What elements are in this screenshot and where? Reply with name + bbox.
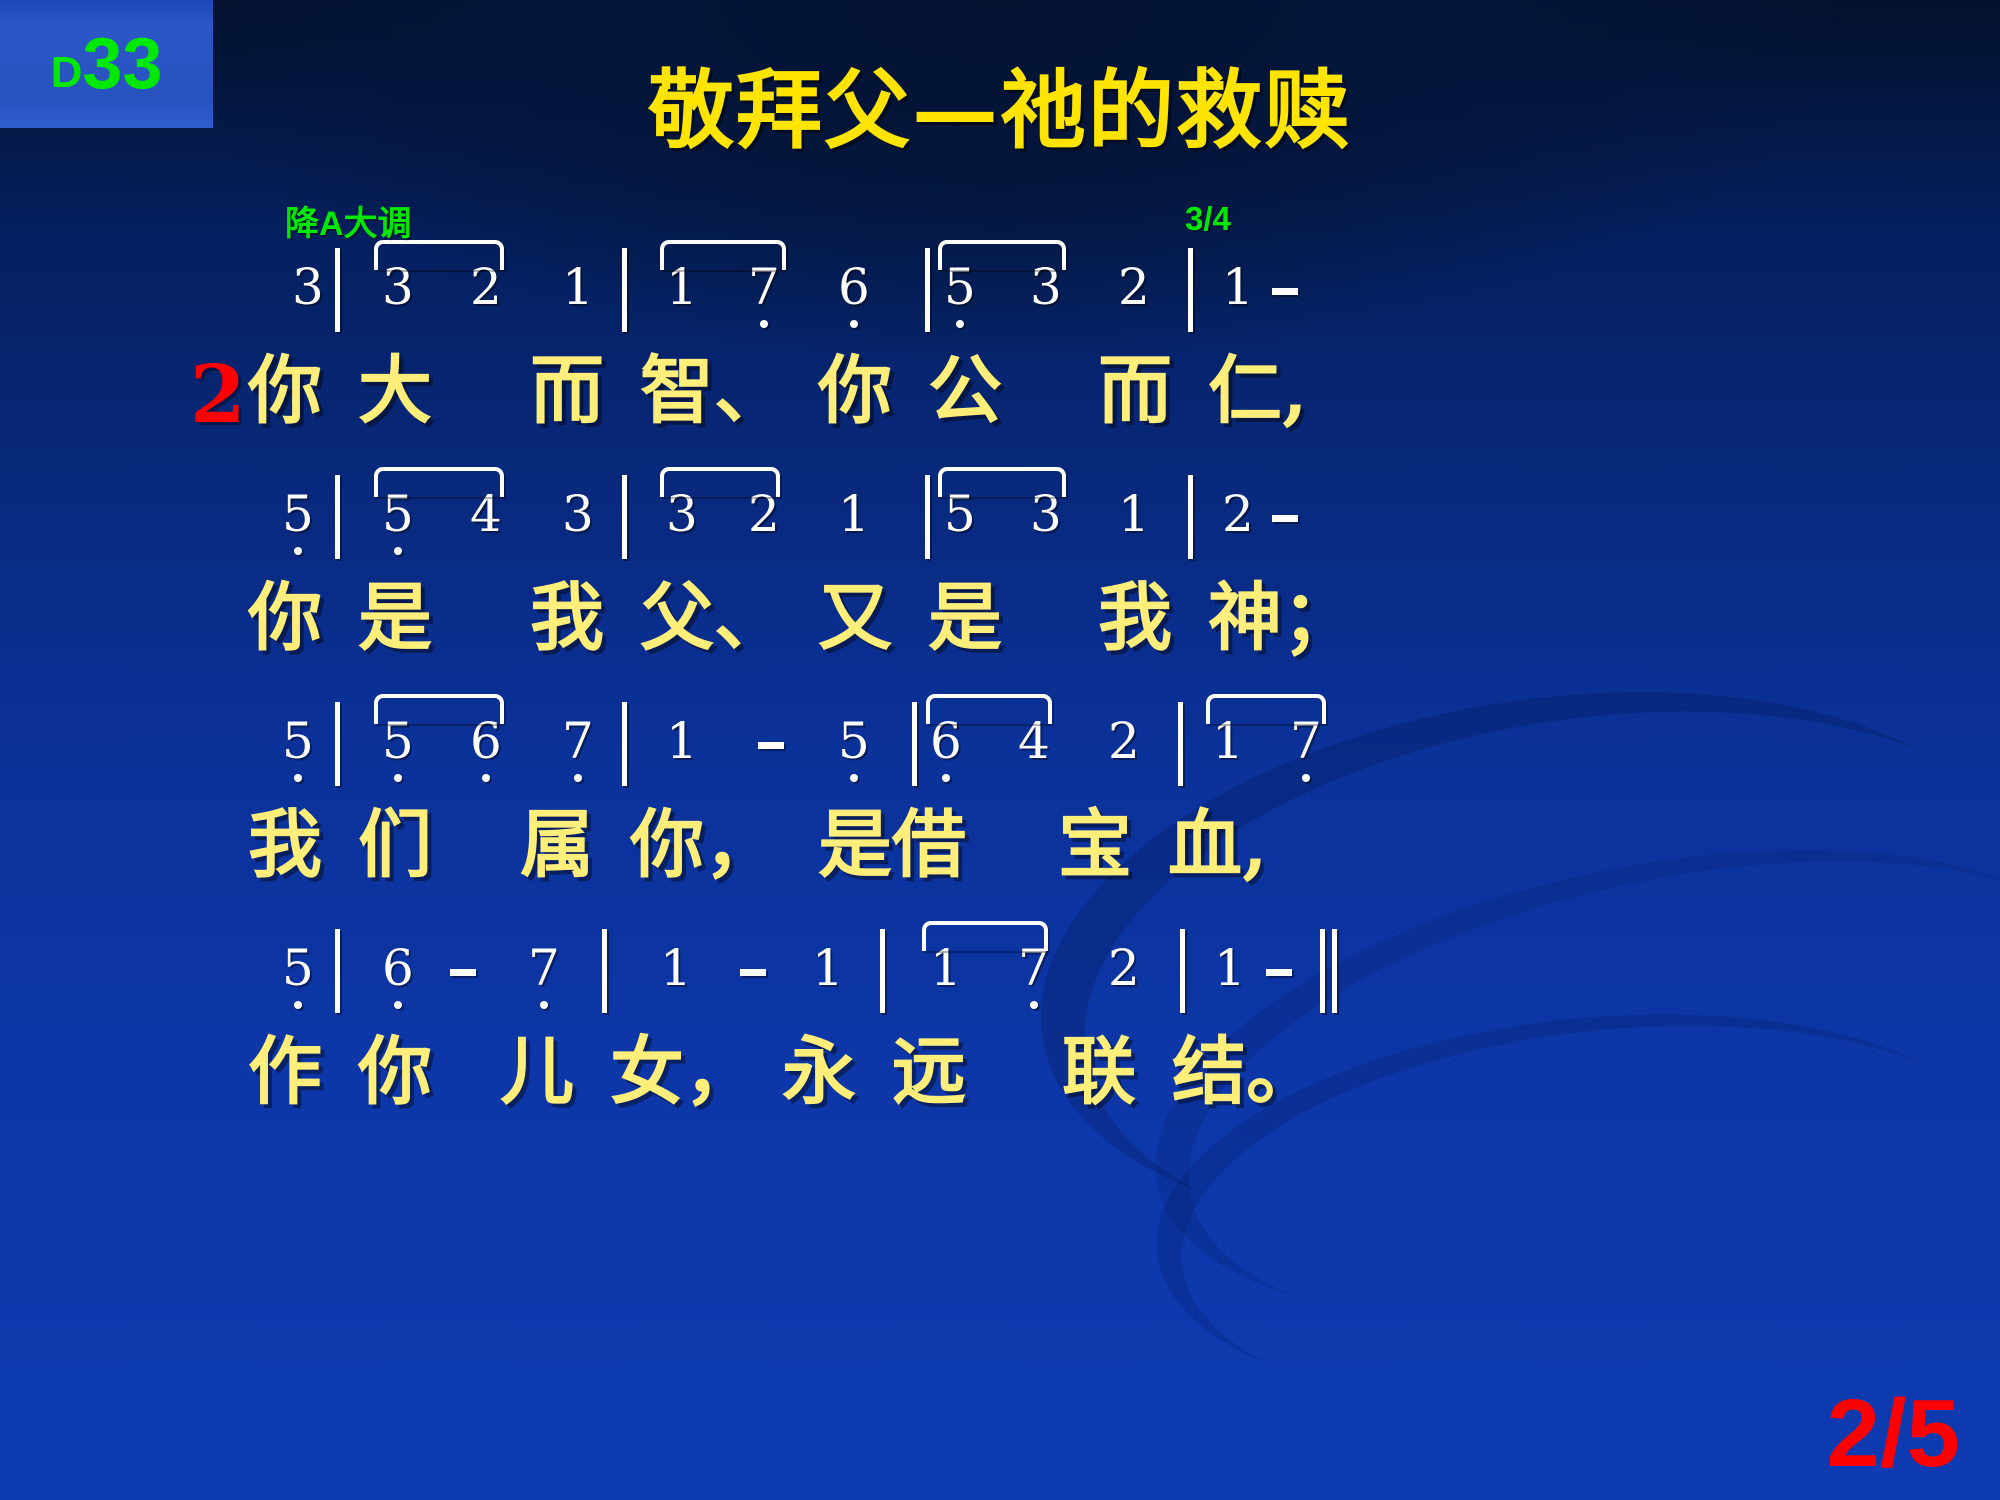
note-beam [660,467,780,497]
note-number: 1 [562,258,594,316]
note-beam [374,467,504,497]
lyric-syllable: 血, [1168,808,1268,882]
barline [1178,702,1183,786]
note-number: 1 [1222,258,1254,316]
note-number: 3 [562,485,594,543]
lyric-syllable: 宝 [1058,808,1132,882]
note-glyph: 2 [1108,939,1140,997]
lyric-syllable: 我 [1098,581,1172,655]
lyric-syllable: 你 [248,354,322,428]
music-system: 567111721作你儿女，永远联结。 [0,939,2000,1166]
note-glyph: 3 [562,485,594,543]
lyric-syllable: 作 [248,1035,322,1109]
lyric-syllable: 而 [1098,354,1172,428]
lyric-syllable: 智、 [640,354,788,428]
note-extension-dash [1272,515,1298,522]
music-system: 55433215312你是我父、又是我神； [0,485,2000,712]
note-beam [374,694,504,724]
barline [335,248,340,332]
note-number: 5 [282,712,314,770]
barline [880,929,885,1013]
notation-line: 567111721 [0,939,2000,1035]
music-sheet: 332117653212你大而智、你公而仁,55433215312你是我父、又是… [0,258,2000,1166]
lyric-syllable: 你， [630,808,778,882]
lyric-syllable: 仁, [1208,354,1308,428]
lyric-syllable: 而 [530,354,604,428]
lyrics-line: 你是我父、又是我神； [0,581,2000,699]
lyric-syllable: 们 [358,808,432,882]
hymn-id-number: 33 [82,28,162,100]
barline [335,702,340,786]
note-number: 6 [838,258,870,316]
note-glyph: 2 [1108,712,1140,770]
lyric-syllable: 你 [358,1035,432,1109]
barline [602,929,607,1013]
note-number: 7 [562,712,594,770]
lyric-syllable: 公 [928,354,1002,428]
note-number: 2 [1108,712,1140,770]
note-glyph: 1 [666,712,698,770]
note-number: 5 [282,485,314,543]
hymn-id-prefix: D [51,51,83,95]
note-extension-dash [758,742,784,749]
barline [925,248,930,332]
lyric-syllable: 父、 [640,581,788,655]
lyric-syllable: 我 [530,581,604,655]
note-number: 1 [660,939,692,997]
music-system: 332117653212你大而智、你公而仁, [0,258,2000,485]
note-glyph: 2 [1118,258,1150,316]
note-beam [938,240,1066,270]
notation-line: 33211765321 [0,258,2000,354]
note-number: 5 [282,939,314,997]
page-title: 敬拜父—祂的救赎 [0,68,2000,154]
barline [1180,929,1185,1013]
note-number: 5 [838,712,870,770]
score-meta-row: 降A大调 3/4 [0,196,2000,244]
barline [335,929,340,1013]
note-number: 1 [666,712,698,770]
note-number: 7 [528,939,560,997]
lyric-syllable: 神； [1208,581,1356,655]
note-glyph-low-octave: 5 [282,485,314,543]
barline [622,248,627,332]
note-glyph: 1 [562,258,594,316]
note-glyph-low-octave: 5 [282,939,314,997]
lyric-syllable: 是借 [818,808,966,882]
lyric-syllable: 结。 [1172,1035,1320,1109]
notation-line: 55671564217 [0,712,2000,808]
barline [622,702,627,786]
note-beam [926,694,1052,724]
note-glyph-low-octave: 5 [838,712,870,770]
lyric-syllable: 永 [782,1035,856,1109]
note-glyph: 1 [660,939,692,997]
note-beam [938,467,1066,497]
lyric-syllable: 你 [818,354,892,428]
lyrics-line: 作你儿女，永远联结。 [0,1035,2000,1153]
note-beam [1206,694,1326,724]
hymn-id-badge: D33 [0,0,213,128]
barline [1188,248,1193,332]
note-number: 1 [812,939,844,997]
note-number: 2 [1222,485,1254,543]
note-glyph: 1 [1222,258,1254,316]
barline [925,475,930,559]
lyrics-line: 2你大而智、你公而仁, [0,354,2000,472]
note-number: 6 [382,939,414,997]
note-extension-dash [1272,288,1298,295]
lyric-syllable: 又 [818,581,892,655]
note-beam [922,921,1048,951]
final-barline [1320,929,1325,1013]
lyric-syllable: 你 [248,581,322,655]
note-glyph-low-octave: 6 [838,258,870,316]
note-extension-dash [1266,969,1292,976]
note-glyph: 1 [812,939,844,997]
note-glyph: 1 [1214,939,1246,997]
verse-number: 2 [190,354,246,434]
note-number: 3 [292,258,324,316]
note-extension-dash [450,969,476,976]
lyric-syllable: 是 [358,581,432,655]
lyric-syllable: 我 [248,808,322,882]
note-extension-dash [740,969,766,976]
note-number: 1 [1118,485,1150,543]
note-number: 2 [1108,939,1140,997]
page-indicator: 2/5 [1827,1386,1960,1482]
notation-line: 55433215312 [0,485,2000,581]
lyric-syllable: 联 [1062,1035,1136,1109]
lyric-syllable: 大 [358,354,432,428]
lyric-syllable: 女， [610,1035,758,1109]
lyric-syllable: 儿 [500,1035,574,1109]
note-beam [660,240,786,270]
note-glyph-low-octave: 5 [282,712,314,770]
lyric-syllable: 属 [520,808,594,882]
lyric-syllable: 远 [892,1035,966,1109]
slide-canvas: D33 敬拜父—祂的救赎 降A大调 3/4 332117653212你大而智、你… [0,0,2000,1500]
note-glyph-low-octave: 6 [382,939,414,997]
barline [912,702,917,786]
note-glyph: 2 [1222,485,1254,543]
note-number: 2 [1118,258,1150,316]
music-system: 55671564217我们属你，是借宝血, [0,712,2000,939]
note-glyph: 3 [292,258,324,316]
barline [1188,475,1193,559]
note-glyph: 1 [1118,485,1150,543]
time-signature-label: 3/4 [1185,200,1231,238]
note-glyph: 1 [838,485,870,543]
lyric-syllable: 是 [928,581,1002,655]
key-signature-label: 降A大调 [285,196,412,245]
note-glyph-low-octave: 7 [562,712,594,770]
barline [335,475,340,559]
note-number: 1 [1214,939,1246,997]
lyrics-line: 我们属你，是借宝血, [0,808,2000,926]
barline [622,475,627,559]
note-glyph-low-octave: 7 [528,939,560,997]
note-number: 1 [838,485,870,543]
